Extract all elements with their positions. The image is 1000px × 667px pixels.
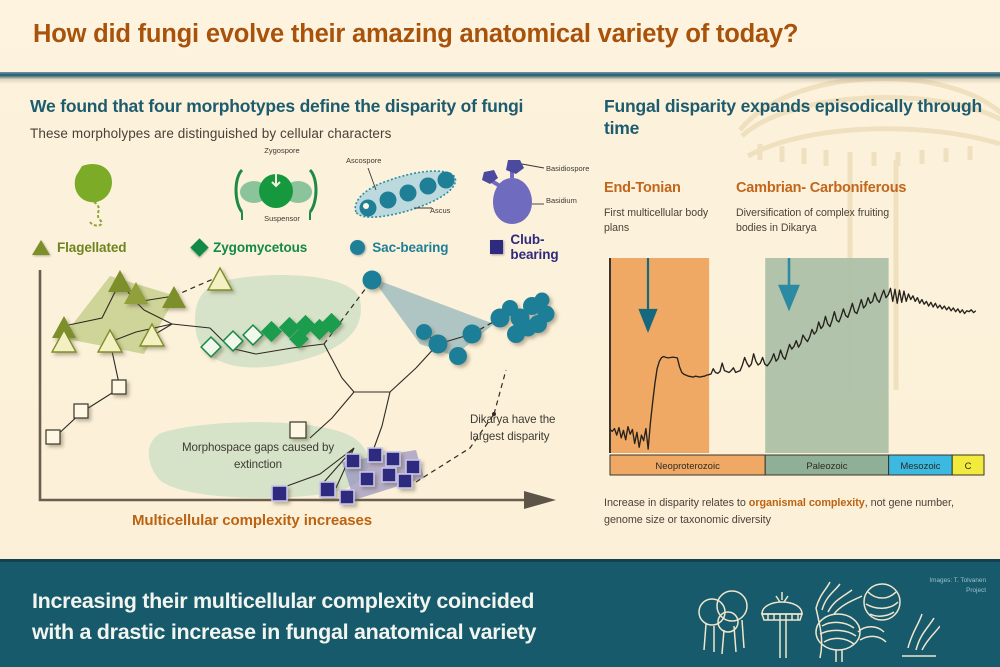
legend-label-zygomycetous: Zygomycetous [213,240,307,255]
legend-label-club-bearing: Club-bearing [510,232,592,262]
event-title-end-tonian: End-Tonian [604,180,681,196]
header: How did fungi evolve their amazing anato… [0,0,1000,72]
x-axis-arrowhead [524,491,556,509]
glyph-label-zygospore: Zygospore [234,146,330,155]
sac-bearing-leader-lines [348,164,468,226]
legend-item-flagellated[interactable]: Flagellated [32,240,193,255]
credit-line-1: Images: T. Tolvanen [890,576,986,586]
conclusion-line-2: with a drastic increase in fungal anatom… [32,617,672,648]
credit-line-2: Project [890,586,986,596]
legend-label-sac-bearing: Sac-bearing [372,240,448,255]
morphotype-legend: Flagellated Zygomycetous Sac-bearing Clu… [32,232,592,262]
legend-item-club-bearing[interactable]: Club-bearing [490,232,593,262]
header-divider-shadow [0,79,1000,84]
diamond-icon [190,238,208,256]
caption-emphasis: organismal complexity [749,497,865,509]
image-credit: Images: T. Tolvanen Project [890,576,986,595]
circle-icon [350,240,365,255]
era-label-mesozoic: Mesozoic [900,461,940,472]
triangle-icon [32,240,50,255]
morphospace-scatter-plot [24,262,590,530]
glyph-label-suspensor: Suspensor [234,214,330,223]
conclusion-line-1: Increasing their multicellular complexit… [32,586,672,617]
right-column-heading: Fungal disparity expands episodically th… [604,95,984,140]
geologic-era-bar: NeoproterozoicPaleozoicMesozoicC [610,455,984,475]
conclusion-text: Increasing their multicellular complexit… [32,586,672,647]
morphospace-axis-caption: Multicellular complexity increases [132,512,372,529]
era-label-neoproterozoic: Neoproterozoic [655,461,720,472]
left-column-heading: We found that four morphotypes define th… [30,95,590,117]
legend-item-sac-bearing[interactable]: Sac-bearing [350,240,489,255]
header-divider [0,72,1000,79]
note-dikarya-disparity: Dikarya have the largest disparity [470,412,580,446]
disparity-timeseries-chart: NeoproterozoicPaleozoicMesozoicC [604,258,986,483]
right-column-header: Fungal disparity expands episodically th… [604,95,984,140]
event-title-cambrian-carboniferous: Cambrian- Carboniferous [736,180,906,196]
event-body-cambrian-carboniferous: Diversification of complex fruiting bodi… [736,206,916,236]
note-morphospace-gaps: Morphospace gaps caused by extinction [168,440,348,474]
morphotype-glyph-row: Zygospore Suspensor Ascospore Ascus Basi… [30,150,590,228]
left-column-subheading: These morpholypes are distinguished by c… [30,126,590,141]
flagellated-cell-icon [64,158,142,228]
infographic-poster: How did fungi evolve their amazing anato… [0,0,1000,667]
legend-item-zygomycetous[interactable]: Zygomycetous [193,240,350,255]
era-label-c: C [965,461,972,472]
era-label-paleozoic: Paleozoic [806,461,847,472]
square-icon [490,240,504,254]
era-band-neoproterozoic [610,258,709,453]
club-bearing-leader-lines [482,156,594,226]
caption-prefix: Increase in disparity relates to [604,497,749,509]
conclusion-banner: Increasing their multicellular complexit… [0,559,1000,667]
timeseries-caption: Increase in disparity relates to organis… [604,495,986,528]
page-title: How did fungi evolve their amazing anato… [33,20,798,49]
left-column-header: We found that four morphotypes define th… [30,95,590,141]
legend-label-flagellated: Flagellated [57,240,126,255]
event-body-end-tonian: First multicellular body plans [604,206,722,236]
